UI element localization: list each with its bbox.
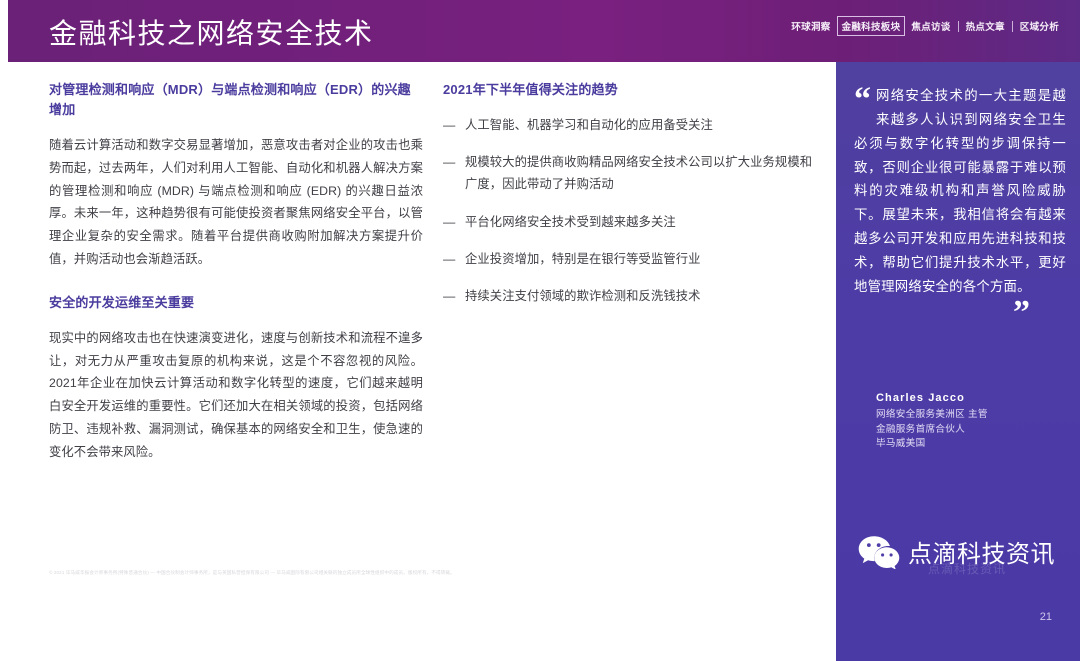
page-content: 对管理检测和响应（MDR）与端点检测和响应（EDR）的兴趣增加 随着云计算活动和… — [8, 62, 1080, 599]
header-nav[interactable]: 环球洞察 金融科技板块 焦点访谈 热点文章 区域分析 — [786, 16, 1064, 36]
attribution-company: 毕马威美国 — [876, 437, 1076, 452]
quote-block: “ 网络安全技术的一大主题是越来越多人认识到网络安全卫生必须与数字化转型的步调保… — [854, 84, 1066, 325]
middle-column: 2021年下半年值得关注的趋势 — 人工智能、机器学习和自动化的应用备受关注 —… — [443, 80, 813, 322]
list-item: — 平台化网络安全技术受到越来越多关注 — [443, 211, 813, 233]
list-item: — 企业投资增加，特别是在银行等受监管行业 — [443, 248, 813, 270]
left-paragraph-2: 现实中的网络攻击也在快速演变进化，速度与创新技术和流程不遑多让，对无力从严重攻击… — [49, 327, 423, 463]
bullet-dash-icon: — — [443, 151, 455, 173]
left-heading-mdr-edr: 对管理检测和响应（MDR）与端点检测和响应（EDR）的兴趣增加 — [49, 80, 423, 120]
bullet-dash-icon: — — [443, 248, 455, 270]
nav-item-hot-articles[interactable]: 热点文章 — [961, 17, 1010, 35]
left-paragraph-1: 随着云计算活动和数字交易显著增加，恶意攻击者对企业的攻击也乘势而起，过去两年，人… — [49, 134, 423, 270]
wechat-badge: 点滴科技资讯 — [858, 534, 1055, 569]
open-quote-icon: “ — [854, 88, 871, 112]
trends-list: — 人工智能、机器学习和自动化的应用备受关注 — 规模较大的提供商收购精品网络安… — [443, 114, 813, 307]
slide-canvas: 金融科技之网络安全技术 环球洞察 金融科技板块 焦点访谈 热点文章 区域分析 对… — [8, 0, 1080, 599]
page-title: 金融科技之网络安全技术 — [49, 12, 374, 52]
quote-attribution: Charles Jacco 网络安全服务美洲区 主管 金融服务首席合伙人 毕马威… — [876, 392, 1076, 452]
quote-text: 网络安全技术的一大主题是越来越多人认识到网络安全卫生必须与数字化转型的步调保持一… — [854, 84, 1066, 299]
middle-heading-trends: 2021年下半年值得关注的趋势 — [443, 80, 813, 100]
page-header: 金融科技之网络安全技术 环球洞察 金融科技板块 焦点访谈 热点文章 区域分析 — [8, 0, 1080, 62]
list-item-label: 持续关注支付领域的欺诈检测和反洗钱技术 — [465, 289, 701, 303]
nav-item-global-insight[interactable]: 环球洞察 — [786, 17, 835, 35]
attribution-role-2: 金融服务首席合伙人 — [876, 423, 1076, 438]
page-number: 21 — [1040, 611, 1052, 623]
nav-item-regional-analysis[interactable]: 区域分析 — [1015, 17, 1064, 35]
left-column: 对管理检测和响应（MDR）与端点检测和响应（EDR）的兴趣增加 随着云计算活动和… — [49, 80, 423, 473]
wechat-icon — [858, 535, 900, 569]
list-item: — 人工智能、机器学习和自动化的应用备受关注 — [443, 114, 813, 136]
bullet-dash-icon: — — [443, 211, 455, 233]
nav-item-focus-interview[interactable]: 焦点访谈 — [906, 17, 955, 35]
list-item: — 持续关注支付领域的欺诈检测和反洗钱技术 — [443, 285, 813, 307]
bullet-dash-icon: — — [443, 114, 455, 136]
list-item-label: 平台化网络安全技术受到越来越多关注 — [465, 215, 676, 229]
quote-panel: “ 网络安全技术的一大主题是越来越多人认识到网络安全卫生必须与数字化转型的步调保… — [836, 62, 1080, 661]
nav-item-fintech-section[interactable]: 金融科技板块 — [837, 16, 906, 36]
list-item-label: 企业投资增加，特别是在银行等受监管行业 — [465, 252, 701, 266]
nav-separator — [958, 21, 959, 32]
slide-page: 金融科技之网络安全技术 环球洞察 金融科技板块 焦点访谈 热点文章 区域分析 对… — [0, 0, 1080, 607]
list-item: — 规模较大的提供商收购精品网络安全技术公司以扩大业务规模和广度，因此带动了并购… — [443, 151, 813, 195]
wechat-account-name: 点滴科技资讯 — [908, 534, 1055, 569]
close-quote-icon: ” — [854, 301, 1066, 325]
nav-separator — [1012, 21, 1013, 32]
list-item-label: 规模较大的提供商收购精品网络安全技术公司以扩大业务规模和广度，因此带动了并购活动 — [465, 155, 812, 191]
left-heading-devsecops: 安全的开发运维至关重要 — [49, 293, 423, 313]
attribution-name: Charles Jacco — [876, 392, 1076, 404]
list-item-label: 人工智能、机器学习和自动化的应用备受关注 — [465, 118, 713, 132]
attribution-role-1: 网络安全服务美洲区 主管 — [876, 408, 1076, 423]
footer-disclaimer: © 2021 毕马威华振会计师事务所(特殊普通合伙) — 中国合伙制会计师事务所… — [49, 570, 789, 576]
bullet-dash-icon: — — [443, 285, 455, 307]
